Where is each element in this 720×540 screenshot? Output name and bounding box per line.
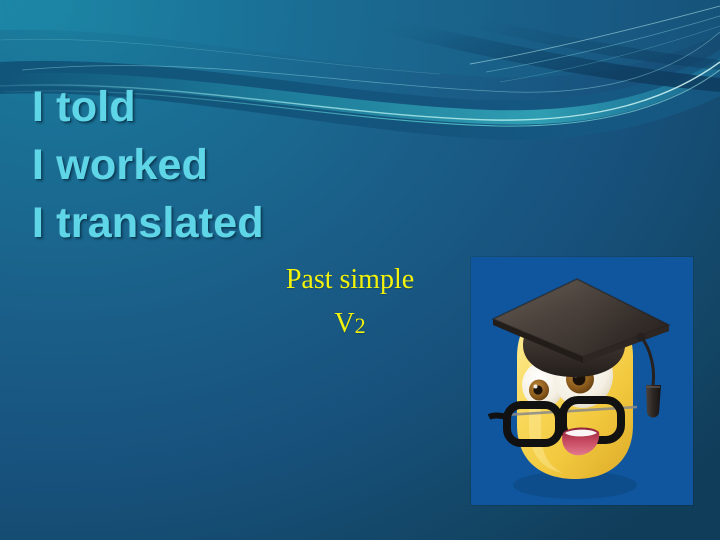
title-line-3: I translated <box>32 194 452 252</box>
subtitle-line-past-simple: Past simple <box>200 258 500 302</box>
wave-band-upper <box>0 0 720 78</box>
wave-hairline-4 <box>470 6 720 64</box>
glasses-arm-left <box>489 416 507 418</box>
wave-hairline-7 <box>0 39 440 74</box>
wave-hairline-6 <box>500 26 720 82</box>
slide-title: I told I worked I translated <box>32 78 452 252</box>
glasses-bridge <box>559 412 563 413</box>
subtitle-line-v2: V2 <box>200 302 500 348</box>
wave-hairline-5 <box>486 16 720 72</box>
subtitle-v2-letter: V <box>334 308 354 339</box>
slide-subtitle: Past simple V2 <box>200 258 500 348</box>
graduate-character-image <box>471 257 693 505</box>
title-line-2: I worked <box>32 136 452 194</box>
character-eye-glint-left <box>534 385 538 389</box>
cap-tassel <box>646 385 661 418</box>
title-line-1: I told <box>32 78 452 136</box>
wave-swoosh-dark-2 <box>378 0 720 70</box>
graduate-character-illustration <box>471 257 693 505</box>
presentation-slide: I told I worked I translated Past simple… <box>0 0 720 540</box>
subtitle-v2-number: 2 <box>355 313 366 338</box>
